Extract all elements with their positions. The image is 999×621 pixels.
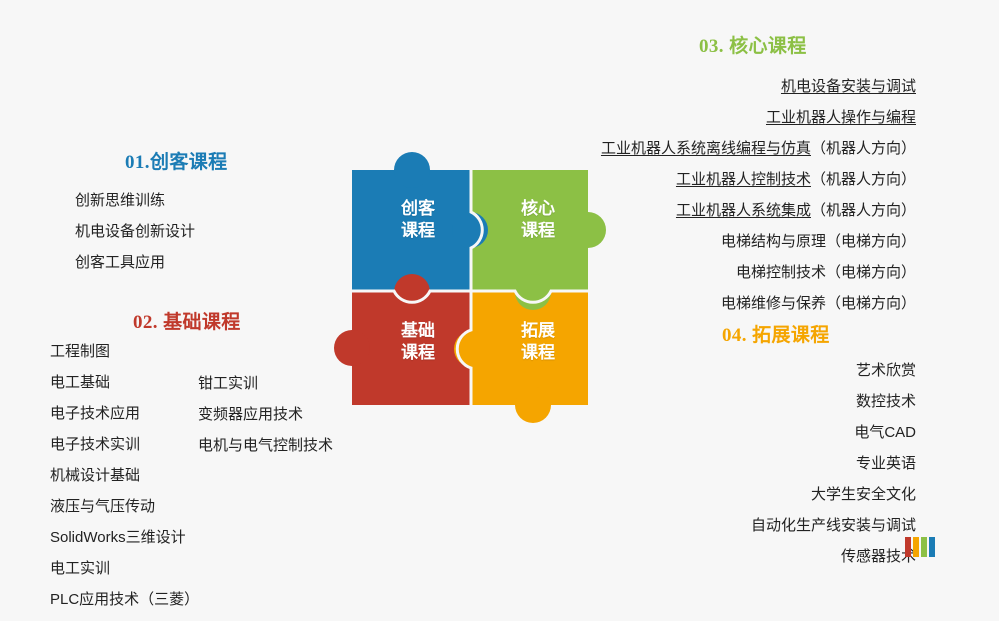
course-main: 电梯控制技术 <box>736 264 826 281</box>
puzzle-label-line2: 课程 <box>382 342 454 364</box>
course-item: 电子技术应用 <box>50 398 199 429</box>
course-item: 液压与气压传动 <box>50 491 199 522</box>
course-main: 电梯维修与保养 <box>721 295 826 312</box>
infographic-canvas: 01.创客课程 创新思维训练 机电设备创新设计 创客工具应用 02. 基础课程 … <box>0 0 999 621</box>
puzzle-knob-center-red <box>394 274 430 310</box>
course-suffix: （电梯方向） <box>826 233 916 250</box>
course-main: 工业机器人系统集成 <box>676 202 811 219</box>
course-item: PLC应用技术（三菱） <box>50 584 199 615</box>
course-item: 数控技术 <box>751 386 916 417</box>
course-list-extension: 艺术欣赏 数控技术 电气CAD 专业英语 大学生安全文化 自动化生产线安装与调试… <box>751 355 916 572</box>
course-item: 工业机器人控制技术（机器人方向） <box>601 164 916 195</box>
puzzle-knob-center-green <box>515 274 551 310</box>
section-title-extension: 04. 拓展课程 <box>722 320 830 347</box>
course-item: 电工基础 <box>50 367 199 398</box>
puzzle-label-line1: 基础 <box>382 320 454 342</box>
course-item: 电气CAD <box>751 417 916 448</box>
course-item: 机电设备创新设计 <box>75 216 195 247</box>
course-item: 电子技术实训 <box>50 429 199 460</box>
course-list-maker: 创新思维训练 机电设备创新设计 创客工具应用 <box>75 185 195 278</box>
puzzle-knob-top <box>394 152 430 188</box>
course-main: 工业机器人系统离线编程与仿真 <box>601 140 811 157</box>
puzzle-label-maker: 创客 课程 <box>382 198 454 242</box>
course-item: 工业机器人系统离线编程与仿真（机器人方向） <box>601 133 916 164</box>
course-main: 工业机器人控制技术 <box>676 171 811 188</box>
puzzle-diagram: 创客 课程 核心 课程 基础 课程 拓展 课程 <box>310 130 610 430</box>
course-list-basic-left: 工程制图 电工基础 电子技术应用 电子技术实训 机械设计基础 液压与气压传动 S… <box>50 336 199 615</box>
course-item: 自动化生产线安装与调试 <box>751 510 916 541</box>
logo-bar-green <box>921 537 927 557</box>
course-item: 电梯结构与原理（电梯方向） <box>601 226 916 257</box>
puzzle-label-line2: 课程 <box>502 342 574 364</box>
course-item: 电梯维修与保养（电梯方向） <box>601 288 916 319</box>
course-item: 创新思维训练 <box>75 185 195 216</box>
puzzle-knob-right <box>570 212 606 248</box>
puzzle-label-line1: 创客 <box>382 198 454 220</box>
course-item: SolidWorks三维设计 <box>50 522 199 553</box>
logo-bar-red <box>905 537 911 557</box>
course-suffix: （电梯方向） <box>826 264 916 281</box>
puzzle-knob-center-orange <box>454 331 490 367</box>
course-item: 电机与电气控制技术 <box>198 430 333 461</box>
course-item: 电工实训 <box>50 553 199 584</box>
logo-bar-blue <box>929 537 935 557</box>
puzzle-label-line1: 拓展 <box>502 320 574 342</box>
puzzle-label-basic: 基础 课程 <box>382 320 454 364</box>
puzzle-knob-left <box>334 330 370 366</box>
section-title-core: 03. 核心课程 <box>699 31 807 58</box>
course-suffix: （机器人方向） <box>811 202 916 219</box>
course-suffix: （机器人方向） <box>811 140 916 157</box>
course-item: 工业机器人操作与编程 <box>601 102 916 133</box>
puzzle-label-line1: 核心 <box>502 198 574 220</box>
puzzle-label-core: 核心 课程 <box>502 198 574 242</box>
course-item: 创客工具应用 <box>75 247 195 278</box>
course-main: 工业机器人操作与编程 <box>766 109 916 126</box>
puzzle-label-extension: 拓展 课程 <box>502 320 574 364</box>
logo-bar-orange <box>913 537 919 557</box>
course-item: 机电设备安装与调试 <box>601 71 916 102</box>
course-main: 电梯结构与原理 <box>721 233 826 250</box>
course-item: 传感器技术 <box>751 541 916 572</box>
section-title-maker: 01.创客课程 <box>125 147 228 174</box>
section-title-basic: 02. 基础课程 <box>133 307 241 334</box>
puzzle-knob-bottom <box>515 387 551 423</box>
four-color-bars-logo <box>905 537 937 557</box>
course-list-core: 机电设备安装与调试 工业机器人操作与编程 工业机器人系统离线编程与仿真（机器人方… <box>601 71 916 319</box>
course-suffix: （电梯方向） <box>826 295 916 312</box>
course-suffix: （机器人方向） <box>811 171 916 188</box>
course-item: 机械设计基础 <box>50 460 199 491</box>
puzzle-label-line2: 课程 <box>382 220 454 242</box>
course-item: 艺术欣赏 <box>751 355 916 386</box>
course-item: 电梯控制技术（电梯方向） <box>601 257 916 288</box>
course-item: 大学生安全文化 <box>751 479 916 510</box>
course-item: 工业机器人系统集成（机器人方向） <box>601 195 916 226</box>
course-main: 机电设备安装与调试 <box>781 78 916 95</box>
puzzle-label-line2: 课程 <box>502 220 574 242</box>
course-item: 专业英语 <box>751 448 916 479</box>
course-item: 工程制图 <box>50 336 199 367</box>
